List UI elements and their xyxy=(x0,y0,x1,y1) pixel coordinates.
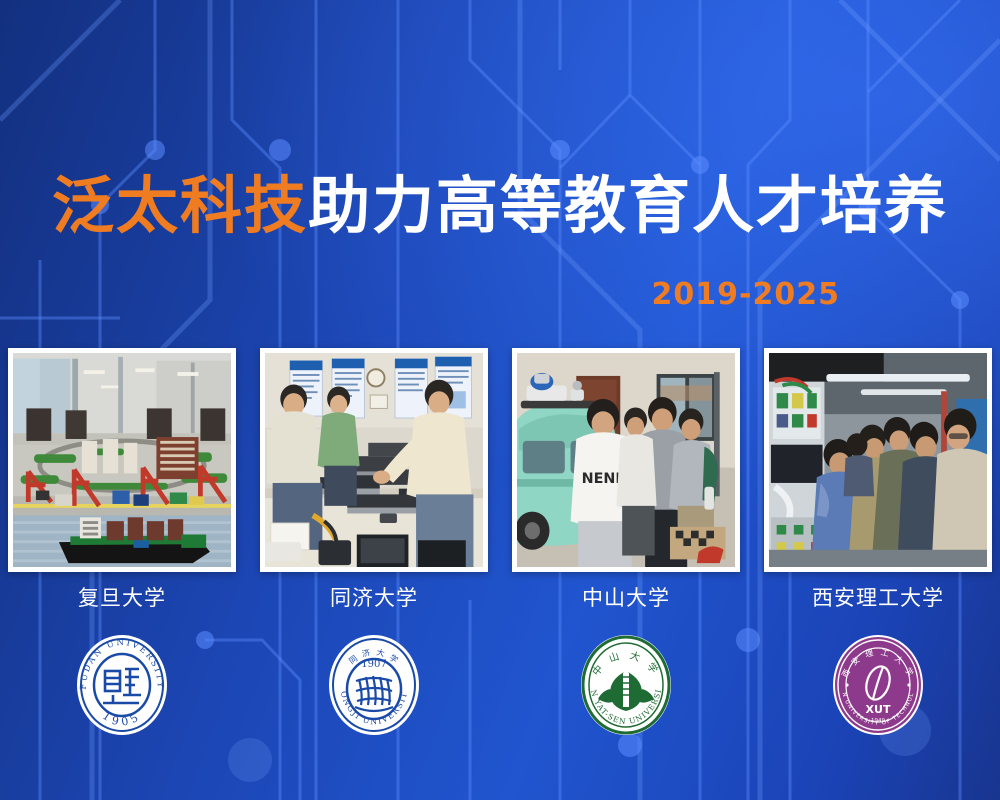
logo-cell-fudan: FUDAN UNIVERSITY 1905 xyxy=(8,630,236,740)
poster-canvas: 泛太科技助力高等教育人才培养 2019-2025 xyxy=(0,0,1000,800)
photo-sysu-autonomous-vehicle: NENR xyxy=(517,353,735,567)
photo-frame-fudan xyxy=(8,348,236,572)
logo-cell-sysu: 中 山 大 学 SUN YAT-SEN UNIVERSITY xyxy=(512,630,740,740)
caption-xut: 西安理工大学 xyxy=(764,582,992,612)
tongji-university-logo: 同 济 大 学 TONGJI UNIVERSITY 1907 xyxy=(325,633,423,737)
logo-cell-xut: 西 安 理 工 大 学 XI'AN UNIVERSITY OF TECHNOLO… xyxy=(764,630,992,740)
photo-fudan-port-model-lab xyxy=(13,353,231,567)
poster-title-block: 泛太科技助力高等教育人才培养 xyxy=(0,175,1000,237)
photo-xut-equipment-demo xyxy=(769,353,987,567)
subtitle-year-range: 2019-2025 xyxy=(652,277,840,312)
fudan-university-logo: FUDAN UNIVERSITY 1905 xyxy=(73,633,171,737)
svg-text:1949: 1949 xyxy=(871,718,885,724)
sun-yat-sen-university-logo: 中 山 大 学 SUN YAT-SEN UNIVERSITY xyxy=(577,633,675,737)
photo-tongji-electronics-lab xyxy=(265,353,483,567)
photo-frame-sysu: NENR xyxy=(512,348,740,572)
title-brand: 泛太科技 xyxy=(52,169,308,242)
caption-row: 复旦大学 同济大学 中山大学 西安理工大学 xyxy=(0,582,1000,612)
title-rest: 助力高等教育人才培养 xyxy=(308,169,948,242)
caption-sysu: 中山大学 xyxy=(512,582,740,612)
caption-tongji: 同济大学 xyxy=(260,582,488,612)
xian-university-of-technology-logo: 西 安 理 工 大 学 XI'AN UNIVERSITY OF TECHNOLO… xyxy=(829,633,927,737)
logo-row: FUDAN UNIVERSITY 1905 xyxy=(0,630,1000,740)
svg-text:XUT: XUT xyxy=(866,703,891,716)
svg-text:1907: 1907 xyxy=(361,659,386,670)
photo-frame-tongji xyxy=(260,348,488,572)
photo-frame-xut xyxy=(764,348,992,572)
caption-fudan: 复旦大学 xyxy=(8,582,236,612)
photo-row: NENR xyxy=(0,348,1000,572)
page-title: 泛太科技助力高等教育人才培养 xyxy=(0,175,1000,237)
logo-cell-tongji: 同 济 大 学 TONGJI UNIVERSITY 1907 xyxy=(260,630,488,740)
